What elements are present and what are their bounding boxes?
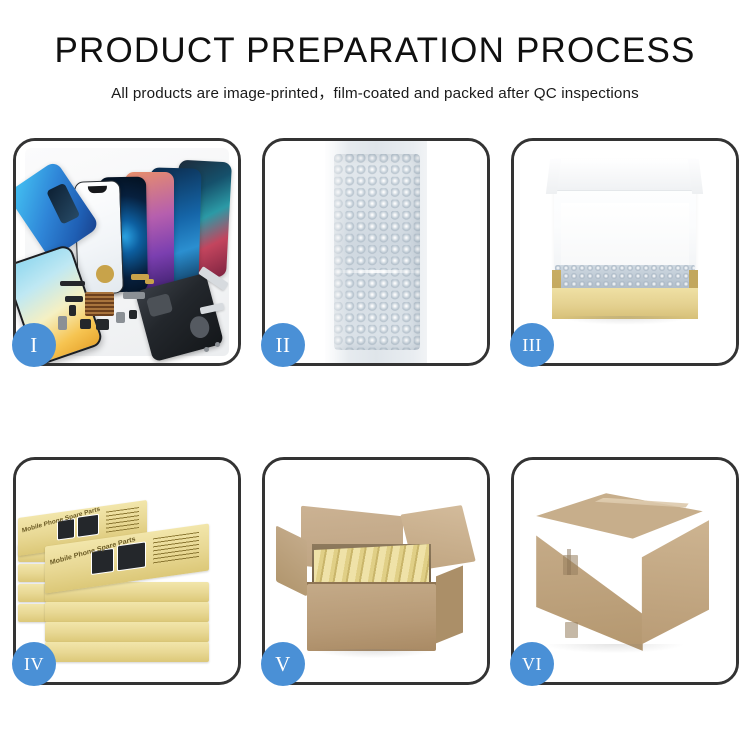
inner-box-shadow bbox=[558, 316, 691, 325]
process-step-panel-6[interactable]: VI bbox=[511, 457, 739, 685]
phone-notch bbox=[88, 186, 107, 194]
spare-part-chip-array bbox=[85, 292, 114, 316]
spare-part-button bbox=[80, 319, 91, 329]
process-step-panel-3[interactable]: III bbox=[511, 138, 739, 366]
box-spec-lines-2 bbox=[153, 533, 199, 566]
stacked-box-r2 bbox=[45, 602, 209, 622]
inner-box-lid-flap bbox=[554, 159, 696, 191]
product-preparation-infographic: PRODUCT PREPARATION PROCESS All products… bbox=[0, 0, 750, 750]
stacked-box-r4 bbox=[45, 642, 209, 662]
page-title: PRODUCT PREPARATION PROCESS bbox=[0, 32, 750, 70]
spare-part-connector-2 bbox=[69, 305, 76, 316]
sealed-carton-shadow bbox=[545, 644, 683, 653]
bubble-wrap-highlight bbox=[325, 141, 349, 363]
process-step-panel-1[interactable]: I bbox=[13, 138, 241, 366]
step-badge-1: I bbox=[12, 323, 56, 367]
sealed-carton-flap-tab-1 bbox=[563, 555, 579, 575]
step-badge-5: V bbox=[261, 642, 305, 686]
sealed-carton-flap-tab-2 bbox=[565, 622, 578, 638]
carton-shadow bbox=[314, 649, 434, 658]
carton-front-face bbox=[307, 584, 436, 651]
spare-part-vibrator bbox=[58, 316, 67, 329]
step-badge-2: II bbox=[261, 323, 305, 367]
process-step-panel-4[interactable]: Mobile Phone Spare Parts Mobile Phone Sp… bbox=[13, 457, 241, 685]
spare-part-sim-tray bbox=[116, 312, 125, 323]
step-badge-6: VI bbox=[510, 642, 554, 686]
process-step-grid: I II bbox=[13, 138, 739, 686]
sealed-carton-left-face bbox=[536, 535, 643, 650]
process-step-panel-5[interactable]: V bbox=[262, 457, 490, 685]
spare-part-connector-1 bbox=[65, 296, 83, 302]
carton-side-face bbox=[436, 566, 463, 643]
sealed-carton-right-face bbox=[638, 520, 709, 644]
inner-box-front-wall bbox=[552, 288, 699, 319]
spare-part-flex-cable-2 bbox=[145, 279, 154, 284]
spare-part-speaker-mesh bbox=[60, 281, 84, 286]
step-badge-3: III bbox=[510, 323, 554, 367]
spare-part-camera-lens bbox=[96, 265, 114, 283]
spare-part-earpiece bbox=[96, 319, 109, 330]
header: PRODUCT PREPARATION PROCESS All products… bbox=[0, 32, 750, 103]
process-step-panel-2[interactable]: II bbox=[262, 138, 490, 366]
spare-part-screw-plate bbox=[129, 310, 137, 319]
spare-part-bracket bbox=[123, 292, 145, 299]
inner-box-foam-sheet bbox=[561, 203, 690, 270]
box-spec-lines-1 bbox=[106, 507, 139, 533]
step-badge-4: IV bbox=[12, 642, 56, 686]
page-subtitle: All products are image-printed，film-coat… bbox=[0, 81, 750, 103]
stacked-box-r3 bbox=[45, 622, 209, 642]
